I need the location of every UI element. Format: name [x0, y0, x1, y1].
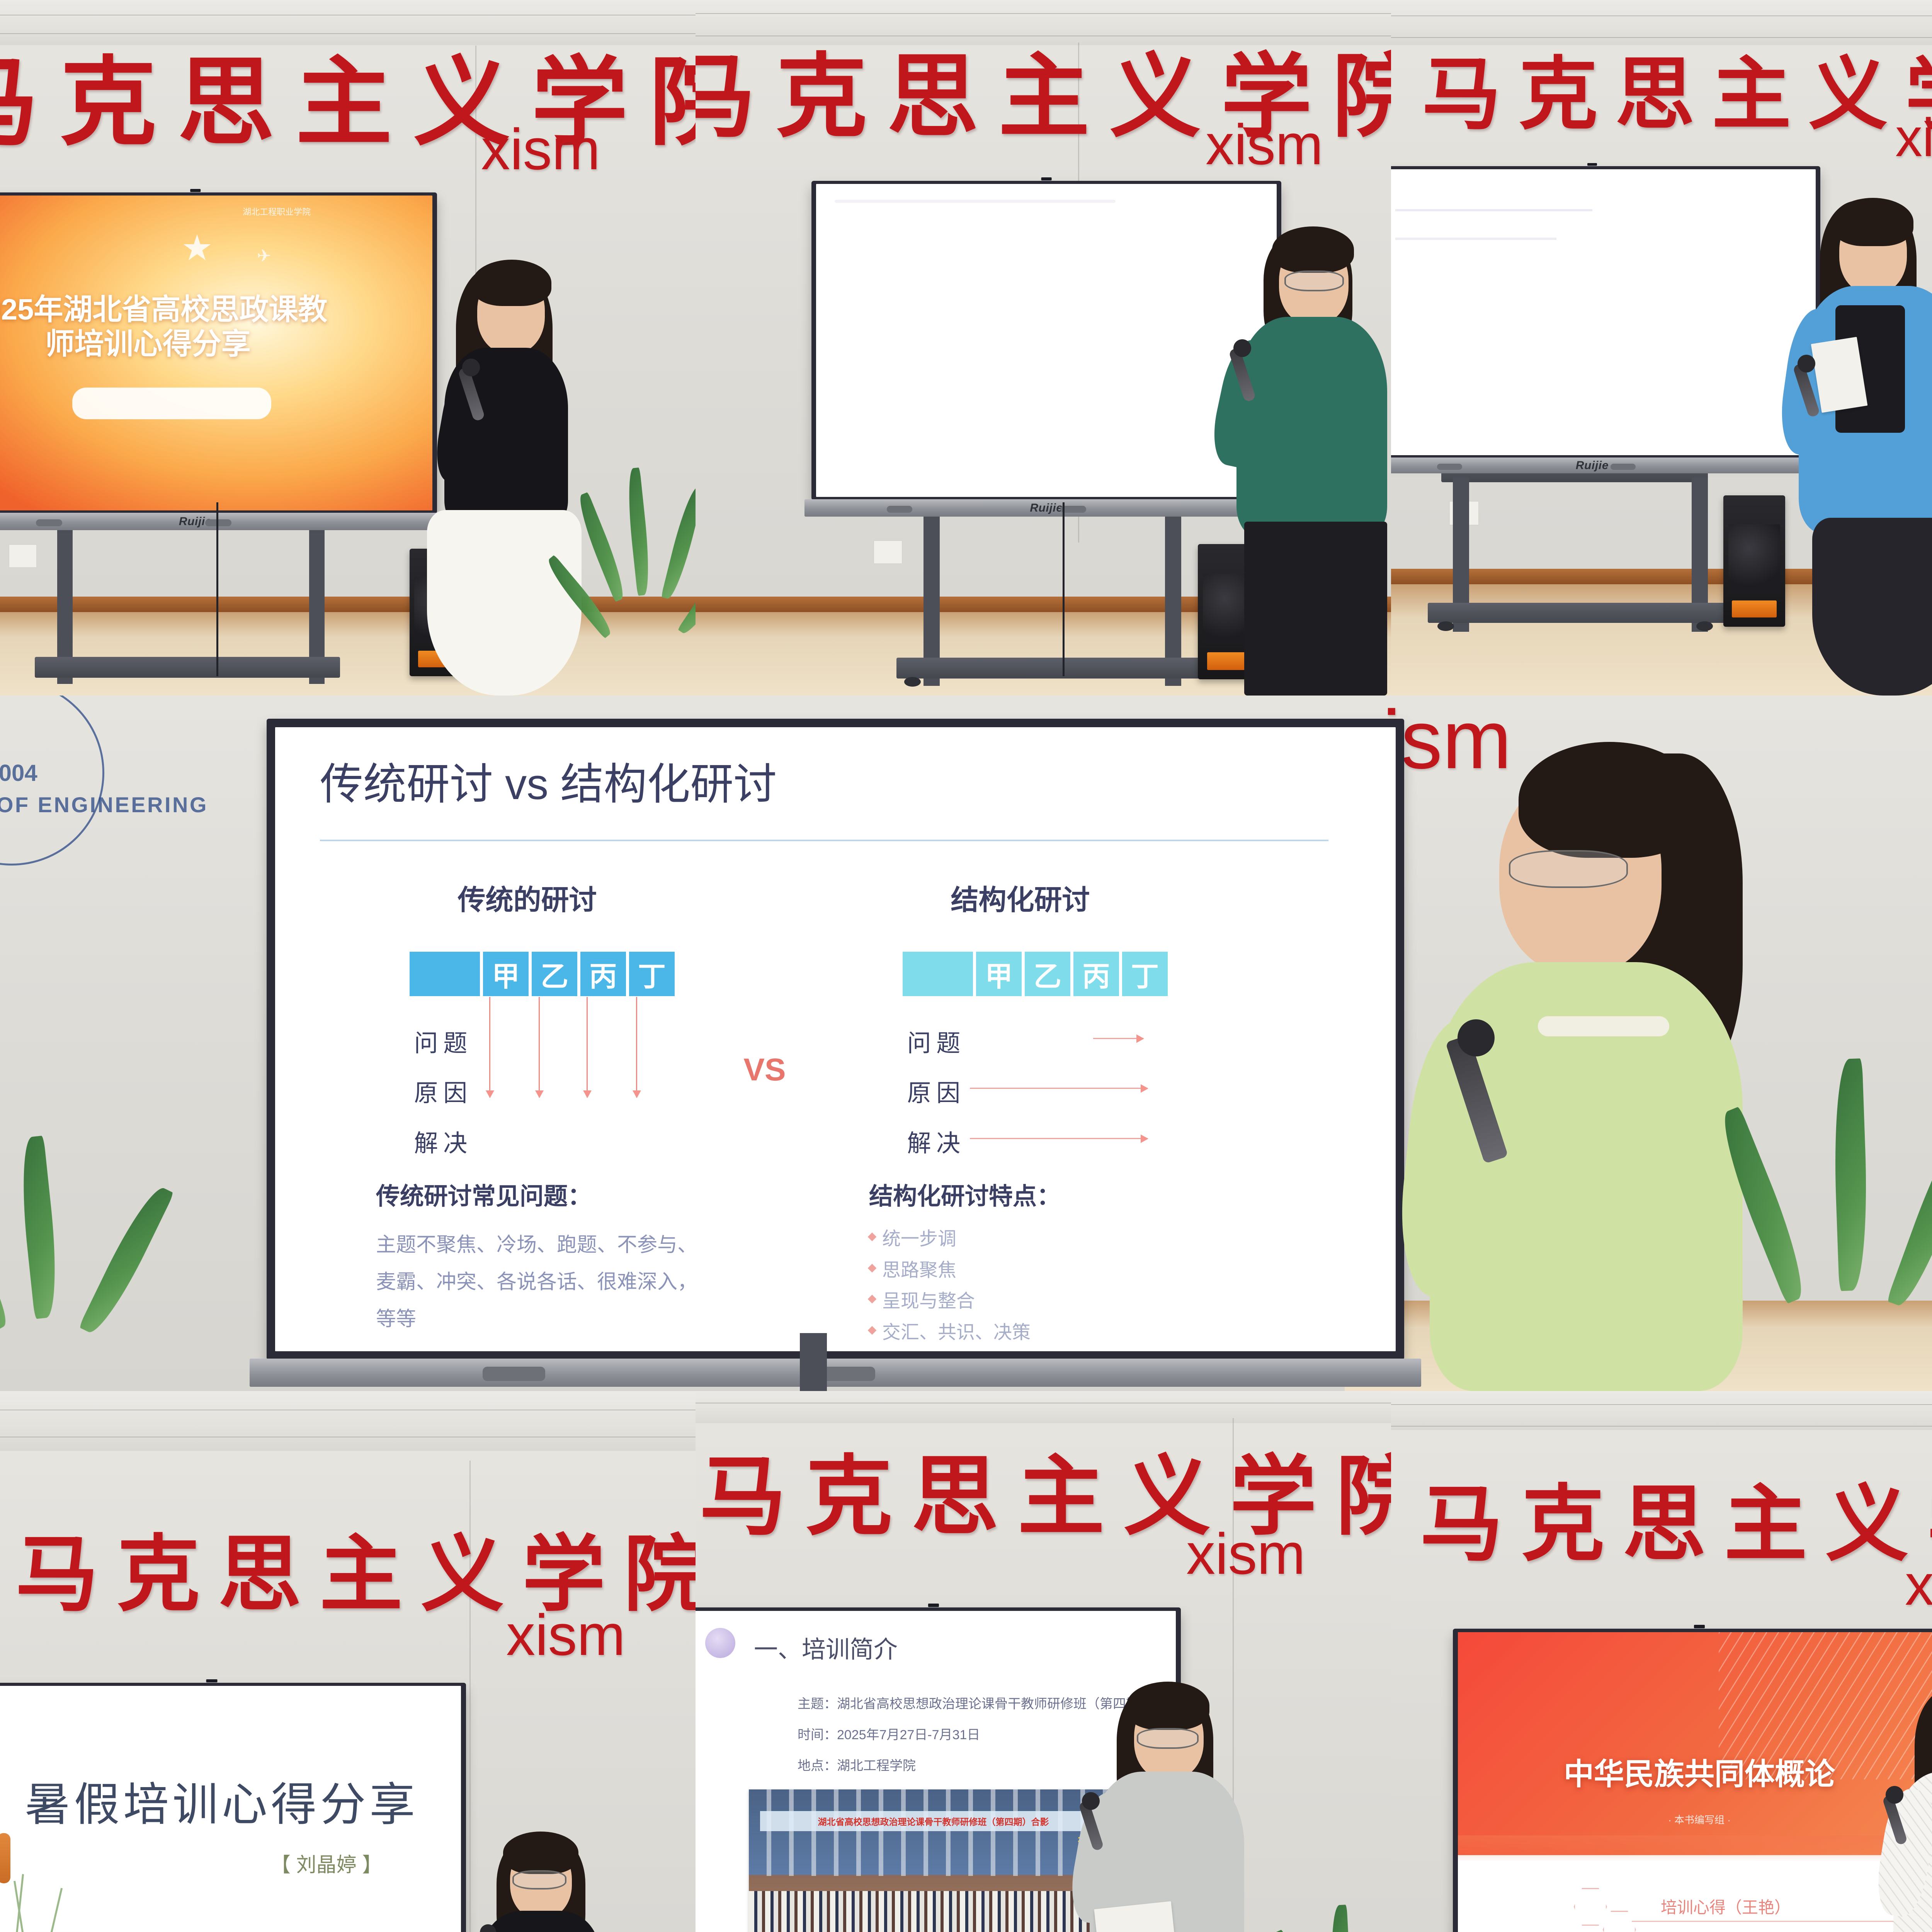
cart-base	[35, 657, 340, 678]
display-brand-label: Ruijie	[1030, 502, 1063, 515]
faint-slide-line	[835, 200, 1116, 203]
bullet-label: 思路聚焦	[882, 1255, 956, 1282]
table-cell-blank	[410, 952, 480, 996]
intro-line-1: 主题：湖北省高校思想政治理论课骨干教师研修班（第四期）	[798, 1693, 1152, 1712]
decor-circle-icon	[705, 1628, 735, 1658]
diamond-bullet-icon	[868, 1264, 877, 1272]
glasses-icon	[1137, 1728, 1199, 1749]
wall-sign-english: xism	[481, 116, 600, 183]
cart-base	[896, 658, 1202, 679]
floor	[0, 612, 696, 696]
table-cell-ding: 丁	[629, 952, 675, 996]
slide-summer-training: ✤ 暑假培训心得分享 【 刘晶婷 】	[0, 1686, 461, 1932]
left-row-label-2: 原因	[414, 1073, 473, 1108]
right-heading: 结构化研讨	[869, 877, 1172, 918]
arrow-right-2	[970, 1088, 1148, 1089]
seal-year: 2004	[0, 760, 37, 786]
table-cell-bing: 丙	[580, 952, 626, 996]
collage-row-middle: xism 2004 Y OF ENGINEERING 传统研讨 vs 结构化研讨…	[0, 696, 1932, 1391]
left-block-heading: 传统研讨常见问题：	[376, 1177, 592, 1211]
group-photo: 湖北省高校思想政治理论课骨干教师研修班（第四期）合影 2025.07	[749, 1789, 1117, 1932]
display-handle-left[interactable]	[483, 1367, 545, 1381]
diamond-bullet-icon	[868, 1233, 877, 1242]
left-row-label-3: 解决	[414, 1124, 473, 1158]
panel-training-overview[interactable]: 马克思主义学院 xism 一、培训简介 主题：湖北省高校思想政治理论课骨干教师研…	[696, 1391, 1391, 1932]
arrow-down-4	[636, 997, 637, 1097]
potted-plant	[1298, 1901, 1391, 1932]
cattail-icon	[0, 1833, 10, 1883]
slide-presenter: 【 刘晶婷 】	[222, 1849, 431, 1878]
arrow-down-2	[539, 997, 540, 1097]
bullet-label: 交汇、共识、决策	[882, 1317, 1031, 1344]
panel-second-speaker[interactable]: 马克思主义学院 xism Ruijie	[696, 0, 1391, 696]
wall-sign-english: xism	[1905, 1551, 1932, 1618]
potted-plant	[1770, 1043, 1932, 1391]
left-row-label-1: 问题	[414, 1024, 473, 1058]
display-handle-right[interactable]	[1611, 464, 1636, 470]
interactive-display[interactable]: 传统研讨 vs 结构化研讨 传统的研讨 甲 乙 丙 丁 问题	[267, 719, 1404, 1360]
cart-column	[800, 1333, 827, 1391]
table-cell-ding: 丁	[1122, 952, 1168, 996]
wall-sign-chinese: 马克思主义学院	[1422, 30, 1932, 145]
collage-row-bottom: 马克思主义学院 xism ✤ 暑	[0, 1391, 1932, 1932]
camera-icon	[1694, 1625, 1705, 1628]
panel-structured-discussion[interactable]: xism 2004 Y OF ENGINEERING 传统研讨 vs 结构化研讨…	[0, 696, 1932, 1391]
display-brand-label: Ruijie	[1576, 459, 1609, 472]
right-bullet-1: 统一步调	[869, 1223, 956, 1250]
diamond-bullet-icon	[868, 1295, 877, 1304]
arrow-down-3	[587, 997, 588, 1097]
vs-label: VS	[743, 1052, 786, 1088]
table-cell-yi: 乙	[532, 952, 577, 996]
power-outlet	[873, 540, 903, 564]
reed-icon-3	[43, 1888, 63, 1932]
camera-icon	[206, 1679, 218, 1682]
slide-opening: ★ 湖北工程职业学院 2025年湖北省高校思政课教 师培训心得分享 ✈ ✈	[0, 196, 432, 510]
photo-collage: 马克思主义学院 xism ★ 湖北工程职业学院 2025年湖北省高校思政课教	[0, 0, 1932, 1932]
right-table-header: 甲 乙 丙 丁	[903, 952, 1168, 996]
slide-title-line2: 师培训心得分享	[0, 325, 328, 364]
panel-ethnic-community-course[interactable]: 马克思主义学院 xism 中华民族共同体概论	[1391, 1391, 1932, 1932]
collage-row-top: 马克思主义学院 xism ★ 湖北工程职业学院 2025年湖北省高校思政课教	[0, 0, 1932, 696]
right-row-label-3: 解决	[907, 1124, 966, 1158]
slide-title-line1: 2025年湖北省高校思政课教	[0, 290, 328, 330]
hexagon-icon-1	[1574, 1888, 1607, 1926]
wall-sign-chinese: 马克思主义学院	[1420, 1457, 1932, 1577]
slide-title: 传统研讨 vs 结构化研讨	[320, 749, 777, 812]
right-row-label-2: 原因	[907, 1073, 966, 1108]
group-photo-banner: 湖北省高校思想政治理论课骨干教师研修班（第四期）合影	[760, 1811, 1107, 1831]
display-handle-left[interactable]	[887, 506, 913, 513]
left-block-text: 主题不聚焦、冷场、跑题、不参与、麦霸、冲突、各说各话、很难深入，等等	[376, 1226, 712, 1338]
slide-structured-discussion: 传统研讨 vs 结构化研讨 传统的研讨 甲 乙 丙 丁 问题	[275, 727, 1396, 1351]
panel-opening-talk[interactable]: 马克思主义学院 xism ★ 湖北工程职业学院 2025年湖北省高校思政课教	[0, 0, 696, 696]
power-outlet	[9, 544, 37, 568]
table-cell-yi: 乙	[1025, 952, 1070, 996]
glasses-icon	[1284, 270, 1344, 291]
wall-sign-english: xism	[1186, 1520, 1305, 1587]
display-screen: 中华民族共同体概论 · 本书编写组 · 培训心得（王艳）	[1458, 1632, 1932, 1932]
table-cell-bing: 丙	[1073, 952, 1119, 996]
cart-base	[1428, 603, 1729, 623]
intro-line-2: 时间：2025年7月27日-7月31日	[798, 1724, 980, 1743]
right-bullet-3: 呈现与整合	[869, 1286, 975, 1313]
right-bullet-2: 思路聚焦	[869, 1255, 956, 1282]
arrow-right-3	[970, 1138, 1148, 1139]
bullet-label: 呈现与整合	[882, 1286, 975, 1313]
camera-icon	[928, 1604, 939, 1607]
slide-footer: 培训心得（王艳）	[1661, 1895, 1902, 1918]
slide-title: 中华民族共同体概论	[1487, 1750, 1912, 1793]
slide-pill-shape	[72, 388, 271, 419]
display-screen: 传统研讨 vs 结构化研讨 传统的研讨 甲 乙 丙 丁 问题	[275, 727, 1396, 1351]
camera-icon	[1041, 177, 1052, 180]
display-screen	[816, 184, 1277, 497]
slide-subtitle: · 本书编写组 ·	[1487, 1812, 1912, 1827]
left-table-header: 甲 乙 丙 丁	[410, 952, 675, 996]
glasses-icon	[1509, 850, 1628, 888]
table-cell-blank	[903, 952, 973, 996]
slide-fade	[1458, 1835, 1932, 1862]
diamond-bullet-icon	[868, 1326, 877, 1335]
right-row-label-1: 问题	[907, 1024, 966, 1058]
left-heading: 传统的研讨	[376, 877, 679, 918]
interactive-display[interactable]: 中华民族共同体概论 · 本书编写组 · 培训心得（王艳） Ruijie	[1453, 1629, 1932, 1932]
bird-icon-2: ✈	[257, 246, 271, 266]
slide-logo: 湖北工程职业学院	[243, 205, 311, 218]
interactive-display[interactable]: Ruijie	[811, 181, 1281, 500]
seal-text: Y OF ENGINEERING	[0, 792, 208, 817]
glasses-icon	[512, 1870, 566, 1889]
right-bullet-4: 交汇、共识、决策	[869, 1317, 1031, 1344]
arrow-right-1	[1093, 1038, 1143, 1039]
panel-summer-training-share[interactable]: 马克思主义学院 xism ✤ 暑	[0, 1391, 696, 1932]
slide-blank	[1391, 169, 1816, 456]
panel-third-speaker[interactable]: 马克思主义学院 xism Ruijie	[1391, 0, 1932, 696]
bullet-label: 统一步调	[882, 1223, 956, 1250]
wall-sign-english: xism	[506, 1602, 625, 1668]
faint-slide-line-2	[1395, 238, 1556, 240]
table-cell-jia: 甲	[976, 952, 1022, 996]
interactive-display[interactable]: Ruijie	[1391, 166, 1820, 458]
camera-icon	[1587, 163, 1597, 166]
display-handle-left[interactable]	[36, 519, 63, 526]
hexagon-icon-2	[1603, 1911, 1636, 1932]
water-illustration	[0, 1930, 192, 1932]
room-scene: 马克思主义学院 xism ★ 湖北工程职业学院 2025年湖北省高校思政课教	[0, 0, 696, 696]
display-screen	[1391, 169, 1816, 456]
potted-plant-left	[0, 1113, 120, 1391]
potted-plant	[603, 460, 696, 692]
display-screen: ✤ 暑假培训心得分享 【 刘晶婷 】	[0, 1686, 461, 1932]
slide-blank	[816, 184, 1277, 497]
section-title: 一、培训简介	[754, 1630, 898, 1665]
faint-slide-line	[1395, 209, 1592, 211]
interactive-display[interactable]: ✤ 暑假培训心得分享 【 刘晶婷 】 Ruijie	[0, 1683, 466, 1932]
pa-speaker	[1723, 495, 1785, 627]
necklace	[1538, 1016, 1669, 1036]
slide-divider	[1632, 1921, 1902, 1922]
star-icon: ★	[181, 227, 213, 269]
slide-ethnic-community: 中华民族共同体概论 · 本书编写组 · 培训心得（王艳）	[1458, 1632, 1932, 1932]
right-block-heading: 结构化研讨特点：	[869, 1177, 1061, 1211]
interactive-display[interactable]: ★ 湖北工程职业学院 2025年湖北省高校思政课教 师培训心得分享 ✈ ✈ Ru…	[0, 192, 437, 514]
arrow-down-1	[489, 997, 490, 1097]
slide-title: 暑假培训心得分享	[2, 1767, 441, 1833]
table-cell-jia: 甲	[483, 952, 529, 996]
camera-icon	[190, 189, 201, 192]
wall-sign-english: xism	[1895, 106, 1932, 169]
wall-sign-english: xism	[1206, 112, 1323, 178]
intro-line-3: 地点：湖北工程学院	[798, 1755, 916, 1774]
display-screen: ★ 湖北工程职业学院 2025年湖北省高校思政课教 师培训心得分享 ✈ ✈	[0, 196, 432, 510]
display-handle-left[interactable]	[1437, 464, 1462, 470]
